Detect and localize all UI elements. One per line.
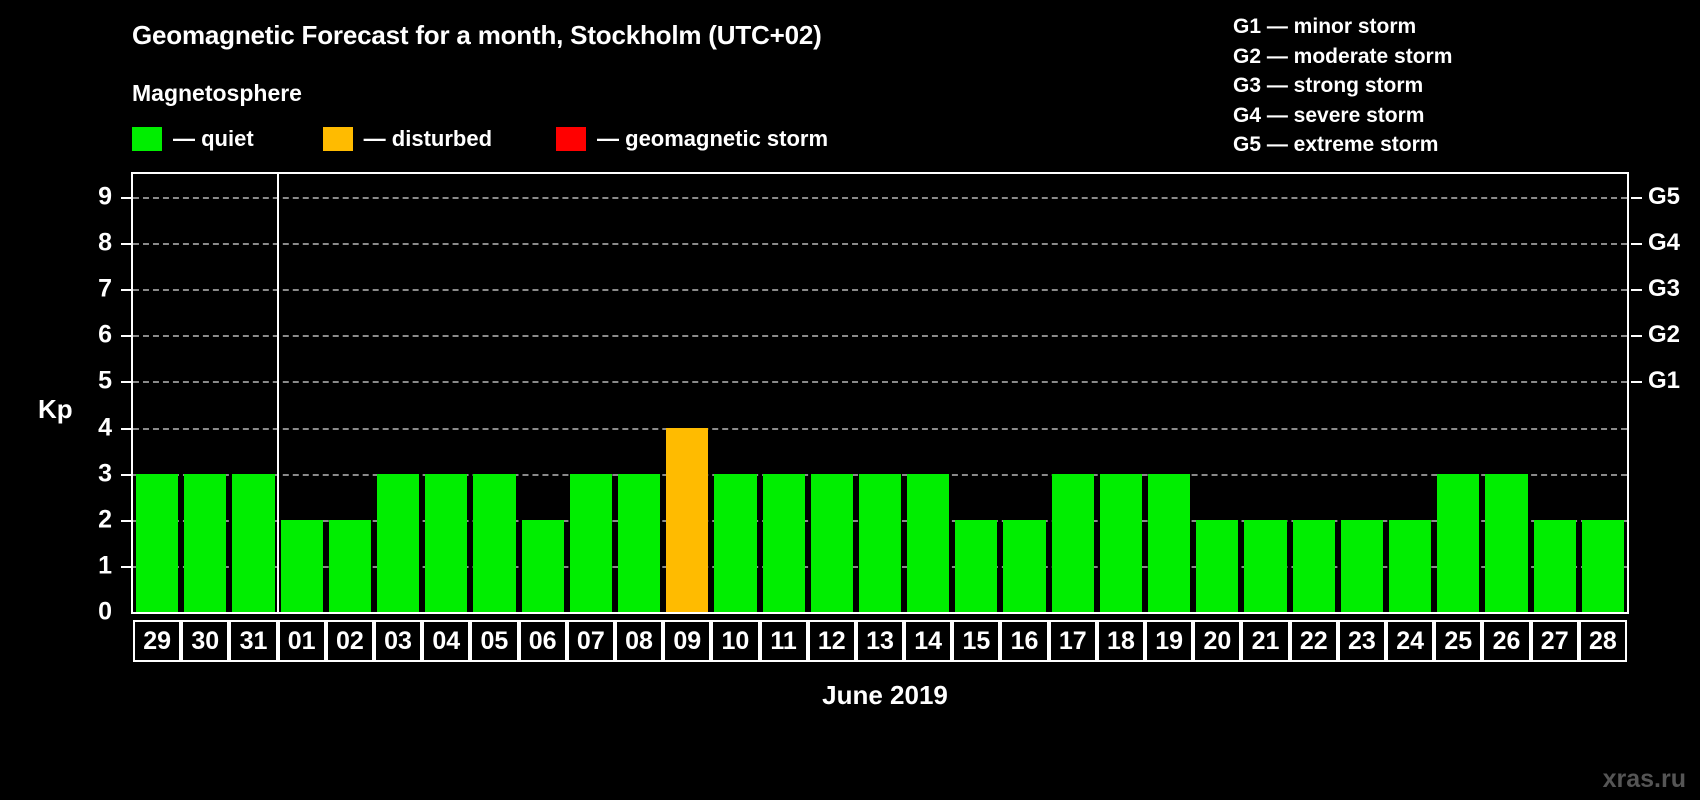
bar	[763, 474, 805, 612]
legend-label-storm: — geomagnetic storm	[597, 126, 828, 152]
day-label-box: 13	[856, 620, 904, 662]
legend-label-disturbed: — disturbed	[364, 126, 492, 152]
green-square-icon	[132, 127, 162, 151]
orange-square-icon	[323, 127, 353, 151]
day-label-box: 29	[133, 620, 181, 662]
x-axis-title: June 2019	[0, 680, 1700, 711]
legend-item-quiet: — quiet	[132, 126, 254, 152]
bar	[859, 474, 901, 612]
day-label-box: 16	[1000, 620, 1048, 662]
gscale-line-g3: G3 — strong storm	[1233, 71, 1452, 101]
y-tick-label: 4	[72, 413, 112, 442]
day-label-box: 30	[181, 620, 229, 662]
day-label-box: 31	[229, 620, 277, 662]
bar	[1100, 474, 1142, 612]
bar	[1052, 474, 1094, 612]
day-label-box: 10	[711, 620, 759, 662]
plot-area	[131, 172, 1629, 614]
y-tick-label: 0	[72, 598, 112, 627]
bar	[425, 474, 467, 612]
day-label-box: 11	[760, 620, 808, 662]
bar	[1485, 474, 1527, 612]
x-axis-day-labels: 2930310102030405060708091011121314151617…	[131, 620, 1629, 662]
gscale-line-g4: G4 — severe storm	[1233, 101, 1452, 131]
bar	[522, 520, 564, 612]
plot-inner	[133, 174, 1627, 612]
g-axis-label: G1	[1648, 367, 1680, 395]
y-tick-label: 1	[72, 551, 112, 580]
day-label-box: 02	[326, 620, 374, 662]
y-tick-mark	[121, 428, 131, 430]
g-axis-tick-mark	[1631, 335, 1642, 337]
gscale-line-g2: G2 — moderate storm	[1233, 42, 1452, 72]
y-tick-label: 2	[72, 505, 112, 534]
legend-item-disturbed: — disturbed	[323, 126, 492, 152]
bar	[1003, 520, 1045, 612]
y-tick-mark	[121, 520, 131, 522]
y-tick-label: 6	[72, 321, 112, 350]
day-label-box: 04	[422, 620, 470, 662]
legend-heading: Magnetosphere	[132, 80, 302, 107]
day-label-box: 18	[1097, 620, 1145, 662]
bar	[232, 474, 274, 612]
bar	[1389, 520, 1431, 612]
g-axis-tick-mark	[1631, 381, 1642, 383]
bar	[1341, 520, 1383, 612]
g-axis-tick-mark	[1631, 289, 1642, 291]
magnetosphere-legend: — quiet — disturbed — geomagnetic storm	[132, 126, 828, 152]
day-label-box: 08	[615, 620, 663, 662]
watermark: xras.ru	[1603, 765, 1686, 794]
gscale-line-g5: G5 — extreme storm	[1233, 130, 1452, 160]
bar	[955, 520, 997, 612]
bar	[1244, 520, 1286, 612]
day-label-box: 15	[952, 620, 1000, 662]
bar	[1293, 520, 1335, 612]
day-label-box: 22	[1290, 620, 1338, 662]
bar	[714, 474, 756, 612]
day-label-box: 21	[1241, 620, 1289, 662]
y-tick-mark	[121, 566, 131, 568]
g-axis-label: G3	[1648, 275, 1680, 303]
day-label-box: 26	[1482, 620, 1530, 662]
bar	[907, 474, 949, 612]
y-tick-mark	[121, 335, 131, 337]
bar	[377, 474, 419, 612]
y-tick-label: 7	[72, 275, 112, 304]
g-axis-label: G2	[1648, 321, 1680, 349]
bar	[1148, 474, 1190, 612]
day-label-box: 19	[1145, 620, 1193, 662]
g-axis-tick-mark	[1631, 197, 1642, 199]
bar	[329, 520, 371, 612]
bar	[184, 474, 226, 612]
day-label-box: 24	[1386, 620, 1434, 662]
day-label-box: 17	[1049, 620, 1097, 662]
bar	[1582, 520, 1624, 612]
legend-item-storm: — geomagnetic storm	[556, 126, 828, 152]
g-axis-label: G5	[1648, 183, 1680, 211]
y-tick-label: 8	[72, 229, 112, 258]
day-label-box: 05	[470, 620, 518, 662]
y-tick-mark	[121, 197, 131, 199]
red-square-icon	[556, 127, 586, 151]
day-label-box: 09	[663, 620, 711, 662]
y-tick-label: 3	[72, 459, 112, 488]
day-label-box: 25	[1434, 620, 1482, 662]
day-label-box: 12	[808, 620, 856, 662]
bar	[281, 520, 323, 612]
day-label-box: 28	[1579, 620, 1627, 662]
bar	[618, 474, 660, 612]
bar	[570, 474, 612, 612]
y-tick-label: 9	[72, 183, 112, 212]
y-tick-mark	[121, 474, 131, 476]
day-label-box: 03	[374, 620, 422, 662]
y-tick-mark	[121, 289, 131, 291]
y-axis-title: Kp	[38, 394, 73, 425]
day-label-box: 20	[1193, 620, 1241, 662]
y-tick-mark	[121, 243, 131, 245]
bar	[1437, 474, 1479, 612]
bar	[666, 428, 708, 612]
bars-layer	[133, 174, 1627, 612]
g-axis-tick-mark	[1631, 243, 1642, 245]
day-label-box: 06	[519, 620, 567, 662]
bar	[136, 474, 178, 612]
y-tick-label: 5	[72, 367, 112, 396]
gscale-line-g1: G1 — minor storm	[1233, 12, 1452, 42]
bar	[473, 474, 515, 612]
legend-label-quiet: — quiet	[173, 126, 254, 152]
y-tick-mark	[121, 381, 131, 383]
bar	[811, 474, 853, 612]
day-label-box: 14	[904, 620, 952, 662]
page-title: Geomagnetic Forecast for a month, Stockh…	[132, 20, 822, 51]
day-label-box: 27	[1531, 620, 1579, 662]
day-label-box: 07	[567, 620, 615, 662]
day-label-box: 23	[1338, 620, 1386, 662]
x-axis-title-text: June 2019	[822, 680, 948, 710]
bar	[1196, 520, 1238, 612]
gscale-legend: G1 — minor storm G2 — moderate storm G3 …	[1233, 12, 1452, 160]
g-axis-label: G4	[1648, 229, 1680, 257]
day-label-box: 01	[278, 620, 326, 662]
bar	[1534, 520, 1576, 612]
